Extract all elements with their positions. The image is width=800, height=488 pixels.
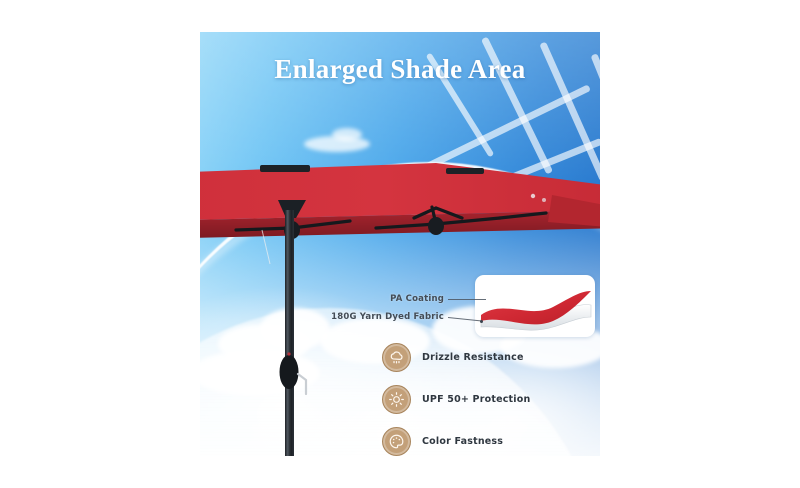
feature-item-upf-protection: UPF 50+ Protection bbox=[382, 385, 597, 413]
feature-list: Drizzle Resistance U bbox=[382, 343, 597, 456]
palette-icon bbox=[382, 427, 411, 456]
fabric-swatch-box bbox=[475, 275, 595, 337]
fabric-swatch-image bbox=[475, 275, 595, 337]
callout-leaders: PA Coating 180G Yarn Dyed Fabric bbox=[330, 287, 490, 337]
leader-line bbox=[448, 317, 482, 322]
feature-label: Drizzle Resistance bbox=[422, 352, 524, 363]
wispy-cloud-icon bbox=[332, 128, 362, 141]
feature-label: UPF 50+ Protection bbox=[422, 394, 530, 405]
leader-line bbox=[448, 299, 486, 300]
rain-cloud-icon bbox=[382, 343, 411, 372]
feature-item-drizzle-resistance: Drizzle Resistance bbox=[382, 343, 597, 371]
leader-dot bbox=[480, 320, 483, 323]
product-image: Enlarged Shade Area bbox=[200, 32, 600, 456]
feature-label: Color Fastness bbox=[422, 436, 503, 447]
page-title: Enlarged Shade Area bbox=[200, 54, 600, 85]
sun-icon bbox=[382, 385, 411, 414]
screenshot-canvas: Enlarged Shade Area bbox=[0, 0, 800, 488]
callout-label-fabric: 180G Yarn Dyed Fabric bbox=[331, 312, 444, 322]
callout-label-pa-coating: PA Coating bbox=[390, 294, 444, 304]
feature-item-color-fastness: Color Fastness bbox=[382, 427, 597, 455]
